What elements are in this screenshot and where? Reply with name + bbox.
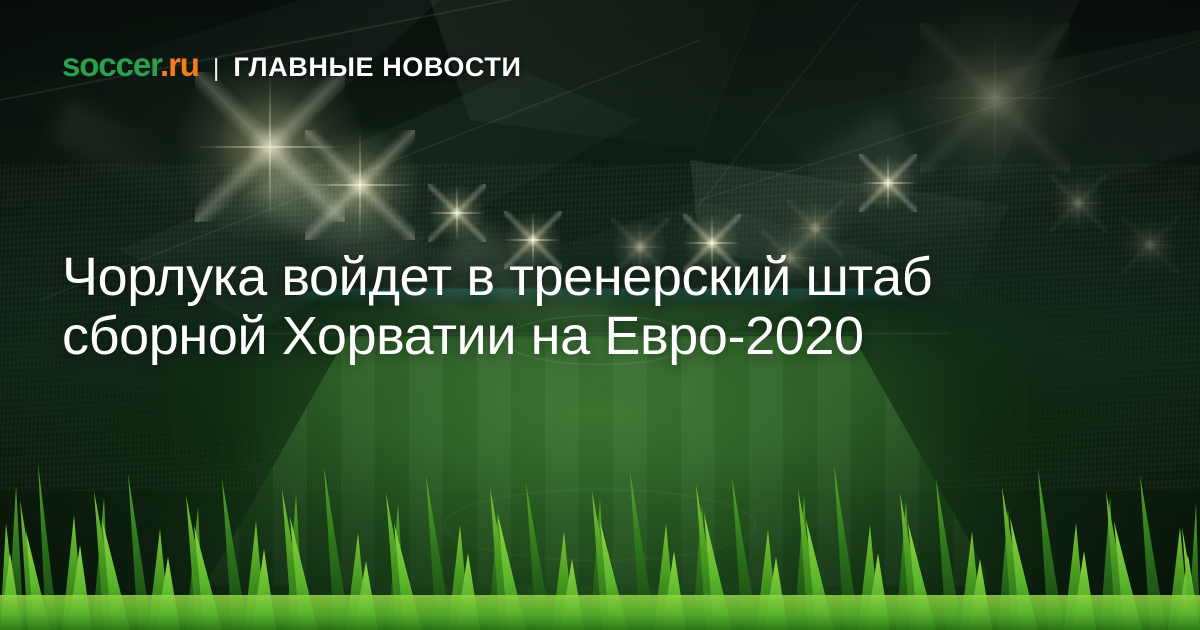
page-title: Чорлука войдет в тренерский штаб сборной… [62, 248, 1127, 365]
news-share-card: soccer.ru | ГЛАВНЫЕ НОВОСТИ Чорлука войд… [0, 0, 1200, 630]
header: soccer.ru | ГЛАВНЫЕ НОВОСТИ [62, 48, 521, 81]
logo-text-soccer: soccer [62, 46, 160, 83]
logo-text-ru: .ru [160, 46, 199, 83]
headline-line-2: сборной Хорватии на Евро-2020 [62, 307, 1127, 366]
header-kicker: ГЛАВНЫЕ НОВОСТИ [233, 54, 521, 81]
header-separator: | [213, 56, 220, 81]
headline-line-1: Чорлука войдет в тренерский штаб [62, 248, 1127, 307]
site-logo[interactable]: soccer.ru [62, 48, 199, 81]
